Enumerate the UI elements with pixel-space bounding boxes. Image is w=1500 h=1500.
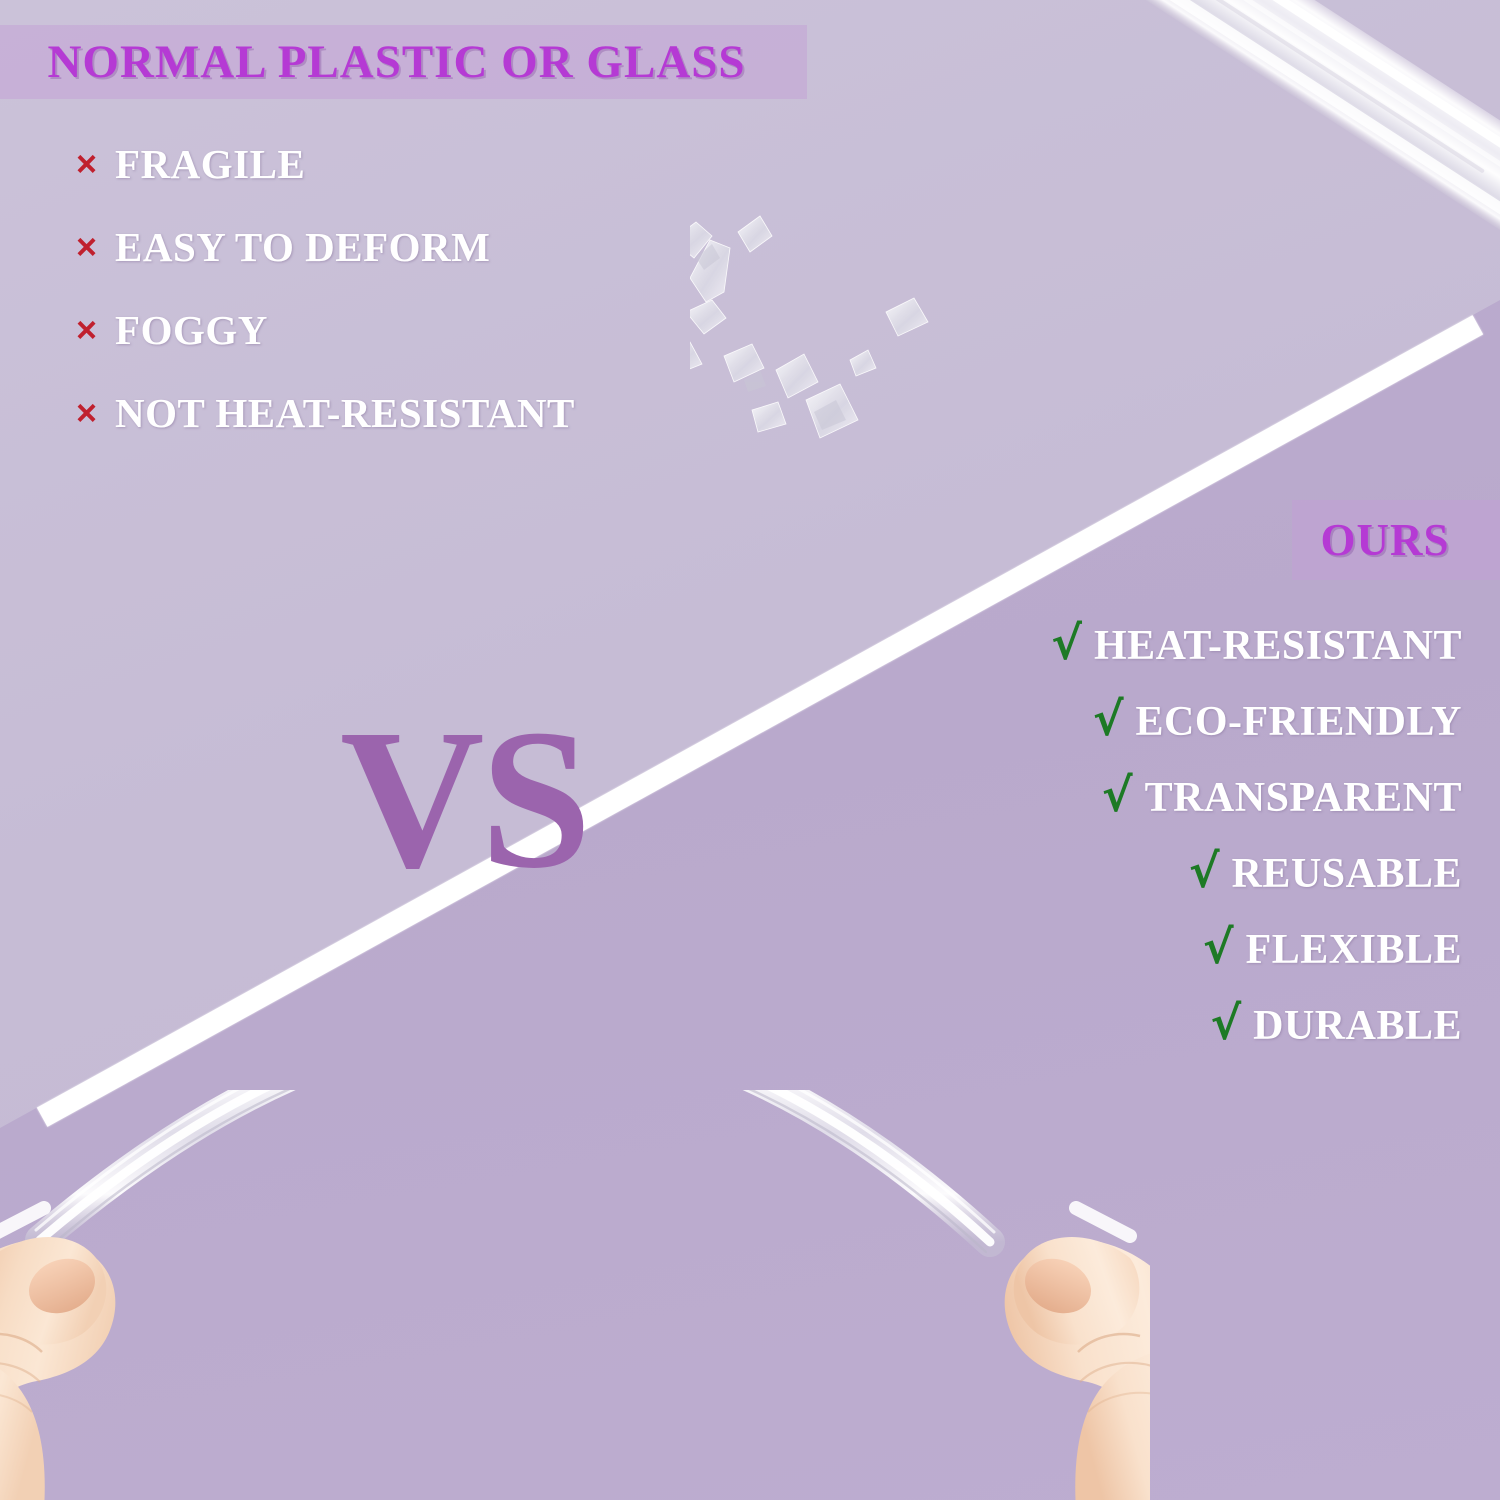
check-icon: √ [1203, 924, 1234, 970]
banner-normal-plastic-or-glass: NORMAL PLASTIC OR GLASS [0, 25, 807, 99]
cons-item-label: FOGGY [115, 306, 268, 354]
list-item: √ TRANSPARENT [900, 774, 1462, 822]
banner-ours: OURS [1292, 500, 1500, 580]
cons-item-label: NOT HEAT-RESISTANT [115, 389, 575, 437]
list-item: × NOT HEAT-RESISTANT [76, 389, 776, 437]
pros-item-label: ECO-FRIENDLY [1136, 698, 1463, 746]
pros-item-label: FLEXIBLE [1246, 926, 1462, 974]
cons-item-label: EASY TO DEFORM [115, 223, 490, 271]
pros-item-label: REUSABLE [1232, 850, 1462, 898]
right-panel-title: OURS [1320, 514, 1449, 566]
pros-item-label: DURABLE [1253, 1002, 1462, 1050]
list-item: × EASY TO DEFORM [76, 223, 776, 271]
check-icon: √ [1210, 1000, 1241, 1046]
check-icon: √ [1093, 696, 1124, 742]
cross-icon: × [76, 312, 97, 348]
list-item: √ FLEXIBLE [900, 926, 1462, 974]
list-item: √ DURABLE [900, 1002, 1462, 1050]
list-item: × FRAGILE [76, 140, 776, 188]
cons-list: × FRAGILE × EASY TO DEFORM × FOGGY × NOT… [76, 140, 776, 472]
cross-icon: × [76, 395, 97, 431]
left-panel-title: NORMAL PLASTIC OR GLASS [47, 35, 745, 89]
check-icon: √ [1189, 848, 1220, 894]
cross-icon: × [76, 146, 97, 182]
list-item: √ HEAT-RESISTANT [900, 622, 1462, 670]
pros-item-label: TRANSPARENT [1145, 774, 1462, 822]
check-icon: √ [1102, 772, 1133, 818]
check-icon: √ [1051, 620, 1082, 666]
cross-icon: × [76, 229, 97, 265]
list-item: × FOGGY [76, 306, 776, 354]
comparison-infographic: NORMAL PLASTIC OR GLASS × FRAGILE × EASY… [0, 0, 1500, 1500]
vs-label: VS [340, 700, 588, 900]
list-item: √ ECO-FRIENDLY [900, 698, 1462, 746]
list-item: √ REUSABLE [900, 850, 1462, 898]
pros-list: √ HEAT-RESISTANT √ ECO-FRIENDLY √ TRANSP… [900, 622, 1462, 1078]
pros-item-label: HEAT-RESISTANT [1094, 622, 1462, 670]
cons-item-label: FRAGILE [115, 140, 305, 188]
